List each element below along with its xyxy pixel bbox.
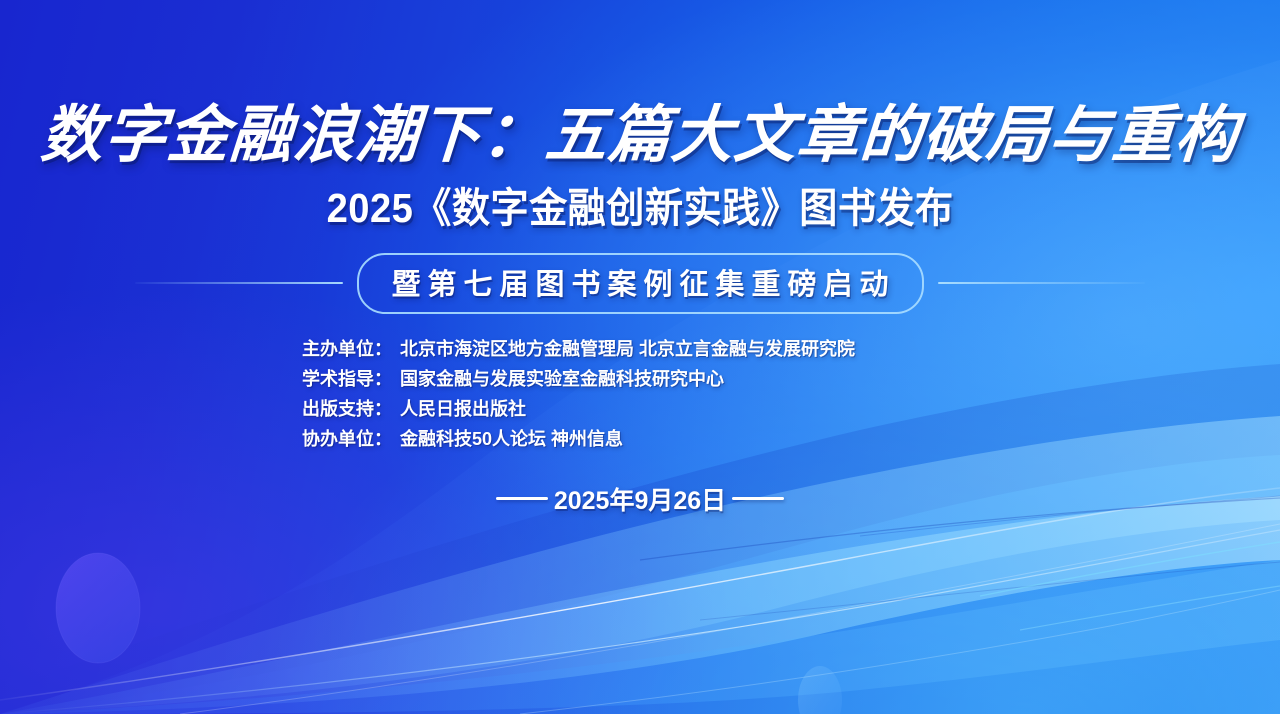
- credit-label: 出版支持：: [302, 399, 392, 419]
- credit-line: 协办单位：金融科技50人论坛 神州信息: [302, 428, 982, 451]
- credit-value: 金融科技50人论坛 神州信息: [400, 429, 623, 449]
- credit-value: 北京市海淀区地方金融管理局 北京立言金融与发展研究院: [400, 339, 855, 359]
- pill-highlight: 暨第七届图书案例征集重磅启动: [357, 253, 924, 314]
- sub-title: 2025《数字金融创新实践》图书发布: [326, 186, 953, 231]
- credit-value: 人民日报出版社: [400, 399, 526, 419]
- credit-line: 出版支持：人民日报出版社: [302, 398, 982, 421]
- date-dash-left: [496, 497, 548, 500]
- credit-line: 学术指导：国家金融与发展实验室金融科技研究中心: [302, 368, 982, 391]
- date-row: 2025年9月26日: [496, 481, 784, 517]
- banner-content: 数字金融浪潮下：五篇大文章的破局与重构 2025《数字金融创新实践》图书发布 暨…: [0, 0, 1280, 714]
- credit-value: 国家金融与发展实验室金融科技研究中心: [400, 369, 724, 389]
- credit-label: 学术指导：: [302, 369, 392, 389]
- pill-rule-left: [135, 282, 343, 284]
- credit-label: 主办单位：: [302, 339, 392, 359]
- date-dash-right: [732, 497, 784, 500]
- credits-block: 主办单位：北京市海淀区地方金融管理局 北京立言金融与发展研究院 学术指导：国家金…: [302, 338, 982, 451]
- main-title: 数字金融浪潮下：五篇大文章的破局与重构: [39, 104, 1241, 170]
- pill-row: 暨第七届图书案例征集重磅启动: [135, 253, 1145, 314]
- event-banner: 数字金融浪潮下：五篇大文章的破局与重构 2025《数字金融创新实践》图书发布 暨…: [0, 0, 1280, 714]
- pill-rule-right: [938, 282, 1146, 284]
- credit-line: 主办单位：北京市海淀区地方金融管理局 北京立言金融与发展研究院: [302, 338, 982, 361]
- event-date: 2025年9月26日: [554, 481, 726, 517]
- credit-label: 协办单位：: [302, 429, 392, 449]
